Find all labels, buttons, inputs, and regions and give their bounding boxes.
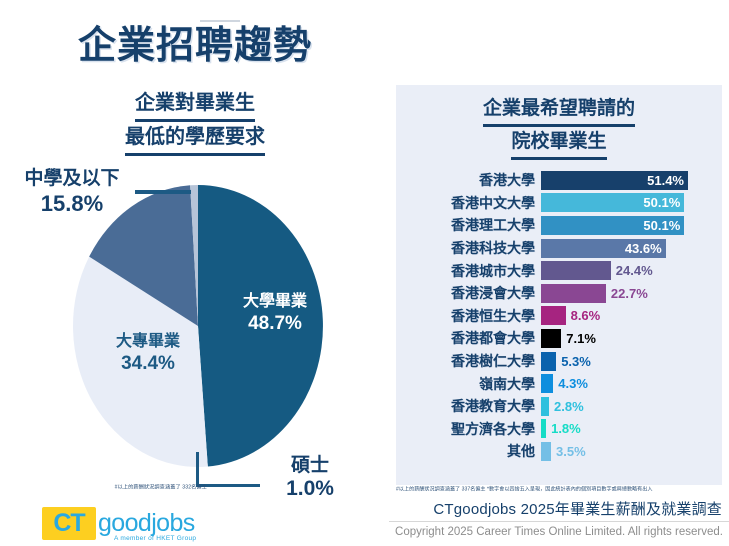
bar-fill (541, 397, 549, 416)
bar-category-label: 聖方濟各大學 (396, 419, 541, 439)
bar-category-label: 香港恒生大學 (396, 306, 541, 326)
ctgoodjobs-logo[interactable]: CT goodjobs A member of HKET Group (42, 505, 242, 545)
bar-row: 香港理工大學50.1% (396, 214, 722, 237)
bar-fill: 51.4% (541, 171, 688, 190)
bar-category-label: 香港科技大學 (396, 238, 541, 258)
bar-row: 香港中文大學50.1% (396, 192, 722, 215)
bar-row: 嶺南大學4.3% (396, 372, 722, 395)
bar-fill (541, 261, 611, 280)
pie-chart-panel: 企業對畢業生 最低的學歷要求 大學畢業 48.7% 大專畢業 34.4% 中學及… (0, 0, 390, 546)
bar-value-label: 50.1% (643, 195, 680, 210)
bar-value-label: 3.5% (556, 444, 586, 459)
bar-fill (541, 306, 566, 325)
bar-fill (541, 419, 546, 438)
bar-value-label: 51.4% (647, 173, 684, 188)
bar-fill: 43.6% (541, 239, 666, 258)
bar-chart-title-line1: 企業最希望聘請的 (483, 94, 635, 127)
bar-track: 8.6% (541, 306, 722, 326)
bar-value-label: 43.6% (625, 241, 662, 256)
bar-value-label: 1.8% (551, 421, 581, 436)
bar-fill (541, 329, 561, 348)
pie-chart-title: 企業對畢業生 最低的學歷要求 (0, 88, 390, 156)
footer-divider-rule (389, 521, 729, 522)
bar-track: 51.4% (541, 170, 722, 190)
bar-category-label: 香港樹仁大學 (396, 351, 541, 371)
survey-caption: CTgoodjobs 2025年畢業生薪酬及就業調查 (396, 498, 722, 519)
bar-category-label: 其他 (396, 441, 541, 461)
bar-chart-footnote: #以上的薪酬狀況調查涵蓋了 337名僱主 *數字會以四捨五入呈現，因此統計表內的… (396, 486, 729, 493)
bar-row: 聖方濟各大學1.8% (396, 418, 722, 441)
bar-category-label: 香港大學 (396, 170, 541, 190)
bar-value-label: 24.4% (616, 263, 653, 278)
bar-track: 22.7% (541, 283, 722, 303)
pie-slice-label-secondary: 中學及以下 15.8% (0, 168, 146, 217)
bar-chart-title: 企業最希望聘請的 院校畢業生 (396, 94, 722, 160)
bar-category-label: 香港中文大學 (396, 193, 541, 213)
pie-chart-title-line2: 最低的學歷要求 (125, 122, 265, 156)
bar-category-label: 香港理工大學 (396, 215, 541, 235)
bar-category-label: 嶺南大學 (396, 374, 541, 394)
bar-value-label: 22.7% (611, 286, 648, 301)
bar-category-label: 香港教育大學 (396, 396, 541, 416)
bar-value-label: 50.1% (643, 218, 680, 233)
bar-fill (541, 374, 553, 393)
pie-slice-0 (198, 185, 323, 467)
bar-track: 24.4% (541, 261, 722, 281)
bar-fill: 50.1% (541, 216, 684, 235)
bar-chart-rows: 香港大學51.4%香港中文大學50.1%香港理工大學50.1%香港科技大學43.… (396, 169, 722, 463)
bar-category-label: 香港城市大學 (396, 261, 541, 281)
pie-chart-graphic (73, 185, 323, 467)
bar-chart-panel: 企業最希望聘請的 院校畢業生 香港大學51.4%香港中文大學50.1%香港理工大… (396, 85, 722, 485)
bar-category-label: 香港浸會大學 (396, 283, 541, 303)
bar-value-label: 5.3% (561, 354, 591, 369)
copyright-text: Copyright 2025 Career Times Online Limit… (389, 526, 729, 538)
bar-fill: 50.1% (541, 193, 684, 212)
pie-slice-value-master: 1.0% (262, 477, 358, 501)
bar-track: 4.3% (541, 374, 722, 394)
bar-track: 43.6% (541, 238, 722, 258)
bar-row: 香港科技大學43.6% (396, 237, 722, 260)
bar-category-label: 香港都會大學 (396, 328, 541, 348)
pie-chart-title-line1: 企業對畢業生 (135, 88, 255, 122)
bar-row: 其他3.5% (396, 440, 722, 463)
bar-row: 香港城市大學24.4% (396, 259, 722, 282)
bar-fill (541, 442, 551, 461)
pie-slice-name-secondary: 中學及以下 (0, 168, 146, 191)
bar-track: 7.1% (541, 328, 722, 348)
bar-row: 香港教育大學2.8% (396, 395, 722, 418)
bar-row: 香港樹仁大學5.3% (396, 350, 722, 373)
bar-track: 5.3% (541, 351, 722, 371)
bar-value-label: 7.1% (566, 331, 596, 346)
pie-slice-value-secondary: 15.8% (0, 191, 146, 217)
pie-chart-footnote: #以上的薪酬狀況調查涵蓋了 332名僱主 (60, 484, 262, 491)
bar-track: 1.8% (541, 419, 722, 439)
logo-tagline: A member of HKET Group (114, 535, 196, 542)
bar-value-label: 8.6% (571, 308, 601, 323)
pie-slice-label-master: 碩士 1.0% (262, 455, 358, 501)
logo-divider-rule (200, 20, 240, 22)
pie-chart-svg (73, 185, 323, 467)
pie-slice-name-master: 碩士 (262, 455, 358, 477)
bar-row: 香港恒生大學8.6% (396, 305, 722, 328)
bar-fill (541, 284, 606, 303)
bar-chart-title-line2: 院校畢業生 (511, 127, 606, 160)
bar-row: 香港浸會大學22.7% (396, 282, 722, 305)
logo-wordmark: goodjobs (98, 508, 195, 538)
leader-line-master-vertical (196, 452, 199, 487)
bar-row: 香港大學51.4% (396, 169, 722, 192)
bar-track: 50.1% (541, 193, 722, 213)
bar-value-label: 2.8% (554, 399, 584, 414)
bar-value-label: 4.3% (558, 376, 588, 391)
bar-track: 2.8% (541, 396, 722, 416)
bar-track: 50.1% (541, 215, 722, 235)
bar-track: 3.5% (541, 441, 722, 461)
bar-fill (541, 352, 556, 371)
bar-row: 香港都會大學7.1% (396, 327, 722, 350)
leader-line-secondary (135, 190, 191, 194)
logo-ct-mark: CT (42, 507, 96, 540)
